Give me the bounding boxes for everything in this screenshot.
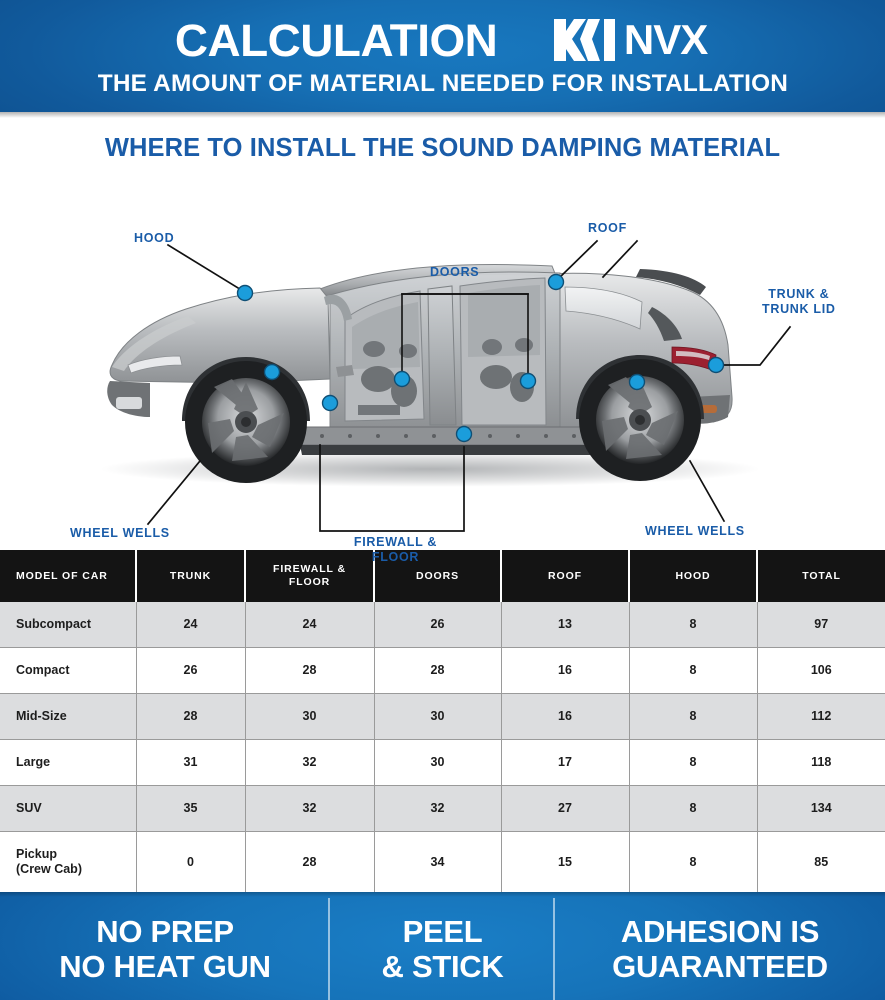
cell-firewall-floor: 28 (245, 648, 374, 694)
brand-logo: NVX (552, 17, 707, 63)
vehicle-illustration (0, 169, 885, 544)
cell-trunk: 31 (136, 740, 245, 786)
cell-hood: 8 (629, 740, 757, 786)
cell-total: 134 (757, 786, 885, 832)
table-row: Subcompact 24 24 26 13 8 97 (0, 602, 885, 648)
cell-model: Subcompact (0, 602, 136, 648)
page-subtitle: THE AMOUNT OF MATERIAL NEEDED FOR INSTAL… (97, 72, 787, 97)
callout-label-firewall-floor: FIREWALL & FLOOR (348, 535, 443, 565)
header-title-row: CALCULATION NVX (0, 17, 885, 63)
cell-firewall-floor: 32 (245, 786, 374, 832)
callout-trunk-line1: TRUNK & (762, 287, 836, 302)
cell-trunk: 35 (136, 786, 245, 832)
callout-label-wheel-wells-front: WHEEL WELLS (70, 526, 170, 541)
page-title: CALCULATION (175, 18, 497, 63)
cell-roof: 16 (501, 694, 629, 740)
footer-feature-adhesion: ADHESION IS GUARANTEED (555, 892, 885, 1000)
col-header-model: MODEL OF CAR (0, 550, 136, 602)
calculation-table: MODEL OF CAR TRUNK FIREWALL & FLOOR DOOR… (0, 550, 885, 892)
table-row: Mid-Size 28 30 30 16 8 112 (0, 694, 885, 740)
footer-feature-3-line2: GUARANTEED (612, 950, 828, 985)
col-header-trunk: TRUNK (136, 550, 245, 602)
col-header-roof: ROOF (501, 550, 629, 602)
cell-trunk: 0 (136, 832, 245, 893)
cell-model-line1: Pickup (16, 847, 57, 861)
cell-hood: 8 (629, 786, 757, 832)
cell-firewall-floor: 28 (245, 832, 374, 893)
cell-doors: 34 (374, 832, 501, 893)
cell-roof: 27 (501, 786, 629, 832)
cell-doors: 30 (374, 694, 501, 740)
cell-model: Mid-Size (0, 694, 136, 740)
cell-total: 118 (757, 740, 885, 786)
callout-label-roof: ROOF (588, 221, 627, 236)
cell-trunk: 28 (136, 694, 245, 740)
cell-roof: 13 (501, 602, 629, 648)
cell-roof: 16 (501, 648, 629, 694)
cell-trunk: 24 (136, 602, 245, 648)
calculation-table-wrap: MODEL OF CAR TRUNK FIREWALL & FLOOR DOOR… (0, 550, 885, 892)
vehicle-diagram: HOOD DOORS ROOF TRUNK & TRUNK LID WHEEL … (0, 169, 885, 544)
cell-firewall-floor: 32 (245, 740, 374, 786)
cell-firewall-floor: 30 (245, 694, 374, 740)
header-banner: CALCULATION NVX THE AMOUNT OF MATERIAL N… (0, 0, 885, 112)
footer-feature-peel-stick: PEEL & STICK (330, 892, 555, 1000)
col-header-total: TOTAL (757, 550, 885, 602)
footer-feature-3-line1: ADHESION IS (612, 915, 828, 950)
xnvx-x-mark-icon (552, 17, 622, 63)
col-header-firewall-line1: FIREWALL & (273, 563, 346, 575)
cell-doors: 30 (374, 740, 501, 786)
footer-feature-1-line2: NO HEAT GUN (59, 950, 270, 985)
cell-hood: 8 (629, 602, 757, 648)
callout-label-trunk: TRUNK & TRUNK LID (762, 287, 836, 317)
cell-model: Large (0, 740, 136, 786)
footer-banner: NO PREP NO HEAT GUN PEEL & STICK ADHESIO… (0, 892, 885, 1000)
cell-roof: 15 (501, 832, 629, 893)
table-row: Compact 26 28 28 16 8 106 (0, 648, 885, 694)
cell-model: Compact (0, 648, 136, 694)
cell-model-line2: (Crew Cab) (16, 862, 82, 876)
callout-label-hood: HOOD (134, 231, 174, 246)
cell-hood: 8 (629, 694, 757, 740)
callout-firewall-line2: FLOOR (348, 550, 443, 565)
cell-doors: 26 (374, 602, 501, 648)
table-row: Pickup (Crew Cab) 0 28 34 15 8 85 (0, 832, 885, 893)
callout-label-wheel-wells-rear: WHEEL WELLS (645, 524, 745, 539)
cell-roof: 17 (501, 740, 629, 786)
footer-feature-2-line1: PEEL (382, 915, 504, 950)
infographic-page: CALCULATION NVX THE AMOUNT OF MATERIAL N… (0, 0, 885, 1000)
cell-total: 85 (757, 832, 885, 893)
cell-total: 106 (757, 648, 885, 694)
callout-firewall-line1: FIREWALL & (348, 535, 443, 550)
col-header-hood: HOOD (629, 550, 757, 602)
col-header-firewall-line2: FLOOR (289, 576, 330, 588)
section-title: WHERE TO INSTALL THE SOUND DAMPING MATER… (0, 134, 885, 163)
cell-hood: 8 (629, 648, 757, 694)
callout-label-doors: DOORS (430, 265, 479, 280)
cell-hood: 8 (629, 832, 757, 893)
cell-total: 112 (757, 694, 885, 740)
cell-firewall-floor: 24 (245, 602, 374, 648)
cell-doors: 28 (374, 648, 501, 694)
header-shadow (0, 112, 885, 118)
footer-feature-1-line1: NO PREP (59, 915, 270, 950)
footer-feature-no-prep: NO PREP NO HEAT GUN (0, 892, 330, 1000)
cell-total: 97 (757, 602, 885, 648)
cell-doors: 32 (374, 786, 501, 832)
callout-trunk-line2: TRUNK LID (762, 302, 836, 317)
footer-feature-2-line2: & STICK (382, 950, 504, 985)
cell-model: SUV (0, 786, 136, 832)
cell-trunk: 26 (136, 648, 245, 694)
cell-model: Pickup (Crew Cab) (0, 832, 136, 893)
table-row: Large 31 32 30 17 8 118 (0, 740, 885, 786)
table-row: SUV 35 32 32 27 8 134 (0, 786, 885, 832)
brand-name: NVX (624, 19, 707, 61)
